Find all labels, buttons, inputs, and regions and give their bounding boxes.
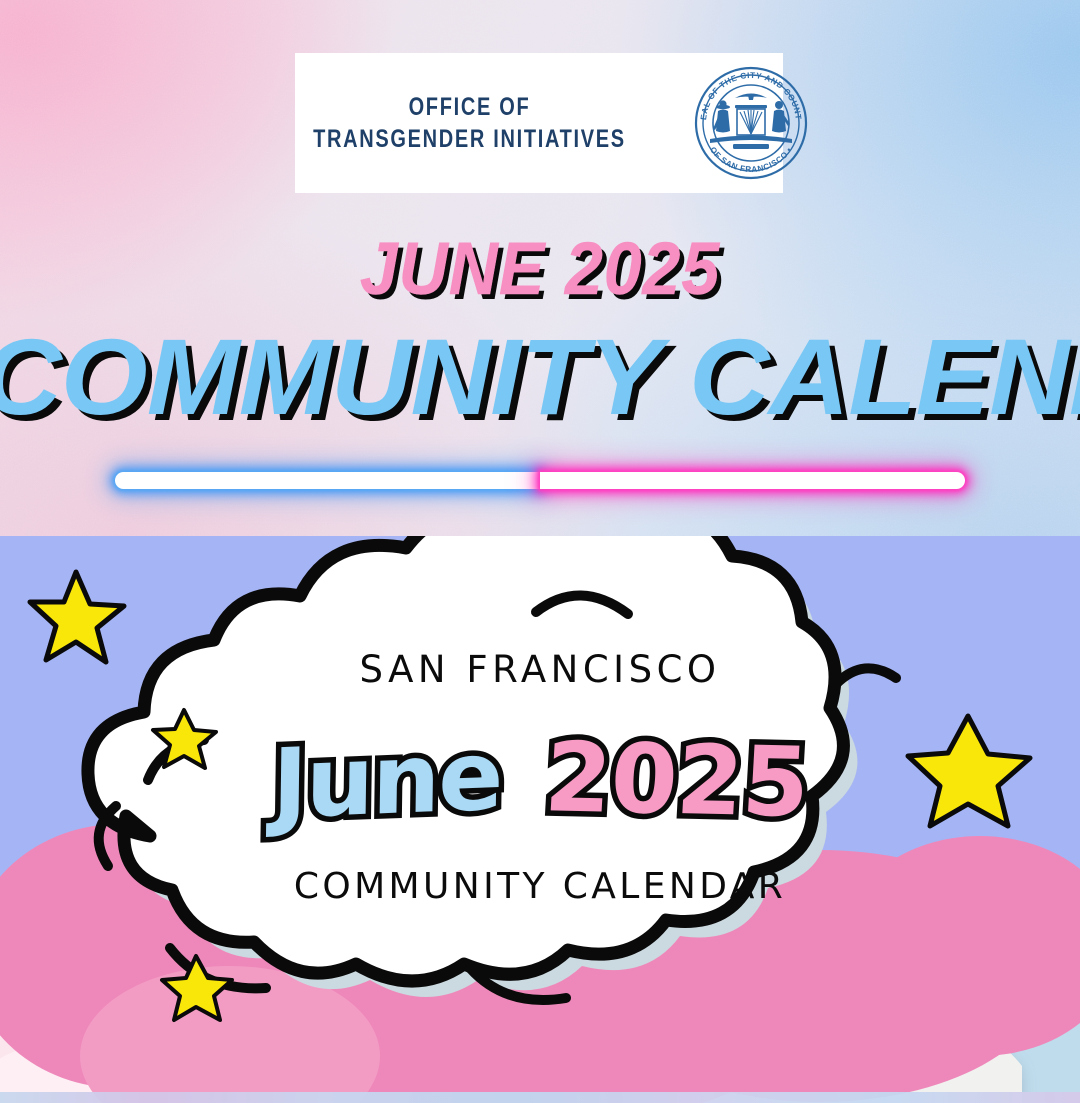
divider-left-blue: [115, 472, 540, 489]
neon-divider: [115, 472, 965, 489]
headline-month: JUNE 2025: [43, 232, 1037, 306]
top-banner: OFFICE OF TRANSGENDER INITIATIVES SEAL O…: [0, 0, 1080, 537]
agency-name-line2: TRANSGENDER INITIATIVES: [313, 123, 626, 156]
headline-block: JUNE 2025 COMMUNITY CALENDAR: [0, 232, 1080, 433]
cloud-illustration: SAN FRANCISCO June 2025 COMMUNITY CALEND…: [0, 536, 1080, 1103]
divider-core-left: [119, 476, 536, 484]
divider-core-right: [544, 476, 961, 484]
san-francisco-city-seal-icon: SEAL OF THE CITY AND COUNTY OF SAN FRANC…: [690, 62, 812, 184]
headline-title: COMMUNITY CALENDAR: [0, 320, 1080, 433]
poster-canvas: OFFICE OF TRANSGENDER INITIATIVES SEAL O…: [0, 0, 1080, 1103]
agency-name: OFFICE OF TRANSGENDER INITIATIVES: [313, 91, 626, 156]
divider-right-pink: [540, 472, 965, 489]
agency-logo-card: OFFICE OF TRANSGENDER INITIATIVES SEAL O…: [295, 53, 783, 193]
cloud-scene-svg: [0, 536, 1080, 1103]
agency-name-line1: OFFICE OF: [313, 91, 626, 124]
bottom-gradient-strip: [0, 1092, 1080, 1103]
